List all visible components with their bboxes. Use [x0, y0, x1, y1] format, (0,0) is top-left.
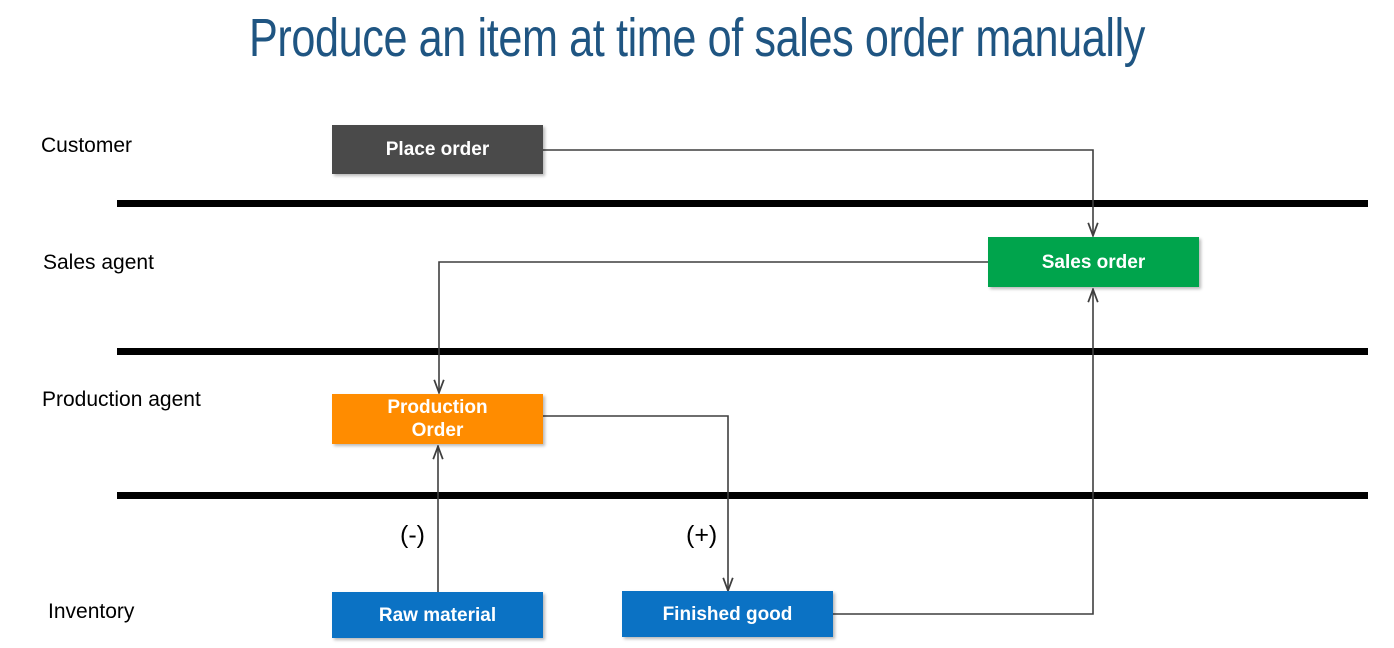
- node-finished-good[interactable]: Finished good: [622, 591, 833, 637]
- node-raw-material[interactable]: Raw material: [332, 592, 543, 638]
- lane-label-customer: Customer: [41, 134, 132, 158]
- edge-finished-good-to-sales-order: [833, 290, 1093, 614]
- node-finished-good-label: Finished good: [663, 603, 793, 626]
- annotation-raw-material-sign: (-): [400, 521, 425, 550]
- lane-label-production-agent: Production agent: [42, 388, 201, 412]
- edge-production-order-to-finished-good: [543, 416, 728, 590]
- node-production-order-label: Production Order: [387, 396, 487, 442]
- node-place-order-label: Place order: [386, 138, 490, 161]
- node-raw-material-label: Raw material: [379, 604, 496, 627]
- edge-place-order-to-sales-order: [543, 150, 1093, 235]
- slide-canvas: Produce an item at time of sales order m…: [0, 0, 1394, 648]
- annotation-finished-good-sign: (+): [686, 521, 717, 550]
- flow-connectors: [0, 0, 1394, 648]
- edge-sales-order-to-production-order: [439, 262, 988, 392]
- lane-divider-3: [117, 492, 1368, 499]
- page-title: Produce an item at time of sales order m…: [139, 4, 1254, 72]
- lane-divider-1: [117, 200, 1368, 207]
- node-place-order[interactable]: Place order: [332, 125, 543, 174]
- node-sales-order[interactable]: Sales order: [988, 237, 1199, 287]
- lane-label-sales-agent: Sales agent: [43, 251, 154, 275]
- node-production-order[interactable]: Production Order: [332, 394, 543, 444]
- node-sales-order-label: Sales order: [1042, 251, 1146, 274]
- lane-divider-2: [117, 348, 1368, 355]
- lane-label-inventory: Inventory: [48, 600, 134, 624]
